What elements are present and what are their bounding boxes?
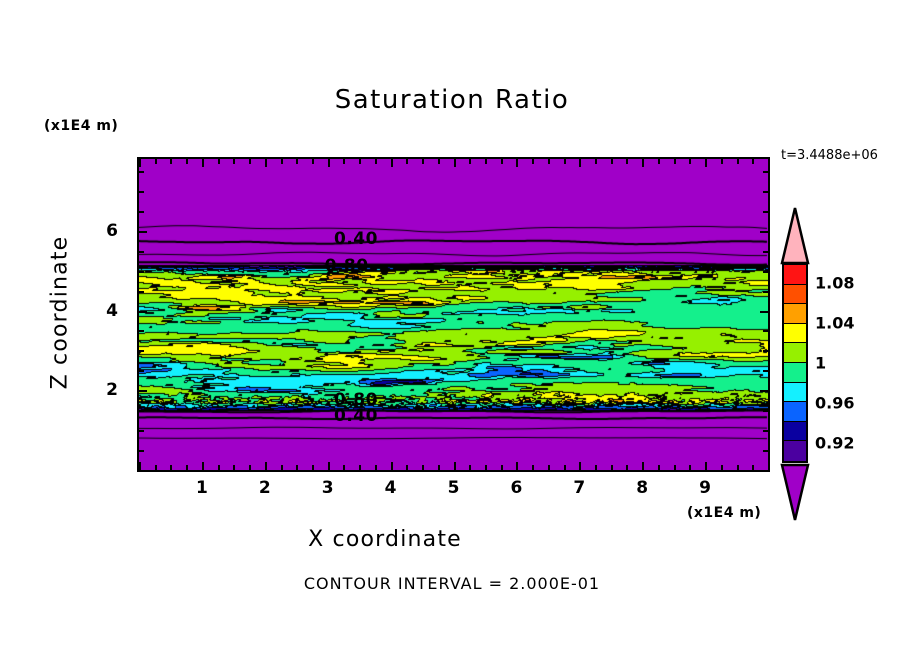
y-axis-tick-right bbox=[763, 330, 768, 332]
colorbar-band bbox=[784, 324, 806, 344]
x-axis-tick bbox=[359, 465, 361, 470]
x-axis-tick-top bbox=[595, 159, 597, 164]
time-stamp-label: t=3.4488e+06 bbox=[781, 148, 878, 163]
colorbar-band bbox=[784, 422, 806, 442]
x-axis-tick-top bbox=[249, 159, 251, 164]
x-axis-tick-top bbox=[579, 159, 581, 167]
x-axis-tick-top bbox=[391, 159, 393, 167]
x-axis-tick bbox=[155, 465, 157, 470]
y-axis-label: Z coordinate bbox=[48, 213, 73, 413]
x-axis-ticklabel: 2 bbox=[259, 478, 271, 498]
x-axis-tick-top bbox=[548, 159, 550, 164]
y-axis-tick-right bbox=[763, 450, 768, 452]
x-axis-tick bbox=[658, 465, 660, 470]
x-axis-tick bbox=[218, 465, 220, 470]
x-axis-tick-top bbox=[689, 159, 691, 164]
x-axis-tick-top bbox=[532, 159, 534, 164]
y-axis-tick-right bbox=[763, 211, 768, 213]
x-axis-tick-top bbox=[721, 159, 723, 164]
y-axis-tick bbox=[139, 311, 147, 313]
x-axis-tick-top bbox=[626, 159, 628, 164]
y-axis-tick bbox=[139, 450, 144, 452]
x-axis-tick bbox=[422, 465, 424, 470]
y-axis-tick bbox=[139, 410, 144, 412]
y-axis-tick bbox=[139, 231, 147, 233]
x-axis-tick bbox=[454, 462, 456, 470]
x-axis-tick-top bbox=[469, 159, 471, 164]
x-axis-tick bbox=[170, 465, 172, 470]
x-axis-tick bbox=[391, 462, 393, 470]
x-axis-ticklabel: 8 bbox=[636, 478, 648, 498]
y-axis-ticklabel: 6 bbox=[106, 221, 118, 241]
x-axis-units-label: (x1E4 m) bbox=[687, 505, 761, 521]
x-axis-tick bbox=[532, 465, 534, 470]
page-title: Saturation Ratio bbox=[0, 85, 904, 115]
x-axis-ticklabel: 7 bbox=[573, 478, 585, 498]
x-axis-tick-top bbox=[611, 159, 613, 164]
y-axis-tick-right bbox=[763, 410, 768, 412]
contour-interval-caption: CONTOUR INTERVAL = 2.000E-01 bbox=[0, 574, 904, 593]
colorbar-over-arrow-icon bbox=[782, 208, 808, 263]
x-axis-tick-top bbox=[642, 159, 644, 167]
contour-line-label: 0.80 bbox=[325, 256, 369, 276]
x-axis-tick bbox=[516, 462, 518, 470]
x-axis-tick bbox=[296, 465, 298, 470]
y-axis-tick-right bbox=[763, 171, 768, 173]
x-axis-tick-top bbox=[139, 159, 141, 167]
colorbar-band bbox=[784, 441, 806, 461]
x-axis-tick-top bbox=[312, 159, 314, 164]
x-axis-tick-top bbox=[328, 159, 330, 167]
x-axis-tick bbox=[406, 465, 408, 470]
x-axis-ticklabel: 4 bbox=[385, 478, 397, 498]
contour-plot-panel[interactable] bbox=[137, 157, 770, 472]
x-axis-tick bbox=[438, 465, 440, 470]
colorbar-band bbox=[784, 402, 806, 422]
y-axis-tick bbox=[139, 370, 144, 372]
colorbar-band bbox=[784, 343, 806, 363]
x-axis-ticklabel: 5 bbox=[448, 478, 460, 498]
y-axis-tick-right bbox=[763, 291, 768, 293]
colorbar-band bbox=[784, 265, 806, 285]
y-axis-ticklabel: 2 bbox=[106, 380, 118, 400]
y-axis-tick bbox=[139, 251, 144, 253]
x-axis-tick bbox=[579, 462, 581, 470]
x-axis-tick bbox=[375, 465, 377, 470]
colorbar-band bbox=[784, 363, 806, 383]
x-axis-tick bbox=[548, 465, 550, 470]
colorbar-band bbox=[784, 383, 806, 403]
x-axis-tick-top bbox=[516, 159, 518, 167]
x-axis-ticklabel: 1 bbox=[196, 478, 208, 498]
colorbar-band bbox=[784, 285, 806, 305]
x-axis-tick bbox=[328, 462, 330, 470]
y-axis-tick-right bbox=[760, 311, 768, 313]
y-axis-tick bbox=[139, 430, 144, 432]
contour-field-canvas bbox=[139, 159, 768, 470]
x-axis-tick-top bbox=[155, 159, 157, 164]
x-axis-tick-top bbox=[375, 159, 377, 164]
x-axis-tick bbox=[139, 462, 141, 470]
colorbar-ticklabel: 1.04 bbox=[815, 314, 854, 333]
contour-line-label: 0.40 bbox=[334, 229, 378, 249]
x-axis-tick-top bbox=[186, 159, 188, 164]
x-axis-tick-top bbox=[281, 159, 283, 164]
y-axis-tick bbox=[139, 350, 144, 352]
colorbar-ticklabel: 0.92 bbox=[815, 434, 854, 453]
colorbar-ticklabel: 1 bbox=[815, 354, 826, 373]
x-axis-tick bbox=[737, 465, 739, 470]
colorbar-ticklabel: 1.08 bbox=[815, 274, 854, 293]
x-axis-ticklabel: 9 bbox=[699, 478, 711, 498]
y-axis-tick-right bbox=[763, 251, 768, 253]
x-axis-ticklabel: 3 bbox=[322, 478, 334, 498]
x-axis-tick bbox=[626, 465, 628, 470]
x-axis-ticklabel: 6 bbox=[510, 478, 522, 498]
x-axis-tick bbox=[642, 462, 644, 470]
x-axis-tick bbox=[281, 465, 283, 470]
colorbar[interactable] bbox=[782, 263, 808, 463]
x-axis-tick-top bbox=[343, 159, 345, 164]
x-axis-tick bbox=[674, 465, 676, 470]
y-axis-tick bbox=[139, 171, 144, 173]
x-axis-tick-top bbox=[406, 159, 408, 164]
x-axis-tick-top bbox=[501, 159, 503, 164]
z-axis-units-label: (x1E4 m) bbox=[44, 118, 118, 134]
x-axis-tick-top bbox=[422, 159, 424, 164]
x-axis-tick-top bbox=[438, 159, 440, 164]
x-axis-tick-top bbox=[359, 159, 361, 164]
x-axis-tick bbox=[312, 465, 314, 470]
y-axis-tick-right bbox=[763, 191, 768, 193]
x-axis-tick-top bbox=[705, 159, 707, 167]
x-axis-tick-top bbox=[752, 159, 754, 164]
y-axis-tick bbox=[139, 291, 144, 293]
x-axis-tick bbox=[705, 462, 707, 470]
x-axis-tick-top bbox=[658, 159, 660, 164]
x-axis-tick-top bbox=[170, 159, 172, 164]
contour-line-label: 0.40 bbox=[334, 406, 378, 426]
x-axis-tick bbox=[752, 465, 754, 470]
x-axis-tick-top bbox=[454, 159, 456, 167]
y-axis-tick-right bbox=[763, 350, 768, 352]
x-axis-tick bbox=[343, 465, 345, 470]
y-axis-tick bbox=[139, 330, 144, 332]
x-axis-tick bbox=[485, 465, 487, 470]
x-axis-tick-top bbox=[564, 159, 566, 164]
y-axis-ticklabel: 4 bbox=[106, 301, 118, 321]
x-axis-tick bbox=[611, 465, 613, 470]
x-axis-tick bbox=[202, 462, 204, 470]
y-axis-tick bbox=[139, 191, 144, 193]
x-axis-tick bbox=[595, 465, 597, 470]
colorbar-under-arrow-icon bbox=[782, 465, 808, 520]
colorbar-band bbox=[784, 304, 806, 324]
x-axis-tick bbox=[186, 465, 188, 470]
x-axis-tick-top bbox=[737, 159, 739, 164]
x-axis-tick bbox=[564, 465, 566, 470]
y-axis-tick-right bbox=[760, 390, 768, 392]
x-axis-label: X coordinate bbox=[0, 527, 770, 552]
x-axis-tick bbox=[249, 465, 251, 470]
y-axis-tick-right bbox=[763, 370, 768, 372]
y-axis-tick bbox=[139, 390, 147, 392]
x-axis-tick-top bbox=[485, 159, 487, 164]
y-axis-tick bbox=[139, 470, 147, 472]
x-axis-tick bbox=[233, 465, 235, 470]
y-axis-tick-right bbox=[760, 470, 768, 472]
x-axis-tick bbox=[469, 465, 471, 470]
x-axis-tick bbox=[721, 465, 723, 470]
x-axis-tick-top bbox=[768, 159, 770, 167]
x-axis-tick-top bbox=[265, 159, 267, 167]
y-axis-tick bbox=[139, 211, 144, 213]
x-axis-tick-top bbox=[674, 159, 676, 164]
colorbar-ticklabel: 0.96 bbox=[815, 394, 854, 413]
y-axis-tick-right bbox=[760, 231, 768, 233]
x-axis-tick-top bbox=[233, 159, 235, 164]
x-axis-tick bbox=[265, 462, 267, 470]
x-axis-tick-top bbox=[202, 159, 204, 167]
y-axis-tick-right bbox=[763, 271, 768, 273]
x-axis-tick bbox=[501, 465, 503, 470]
x-axis-tick bbox=[689, 465, 691, 470]
y-axis-tick bbox=[139, 271, 144, 273]
x-axis-tick-top bbox=[218, 159, 220, 164]
x-axis-tick-top bbox=[296, 159, 298, 164]
y-axis-tick-right bbox=[763, 430, 768, 432]
